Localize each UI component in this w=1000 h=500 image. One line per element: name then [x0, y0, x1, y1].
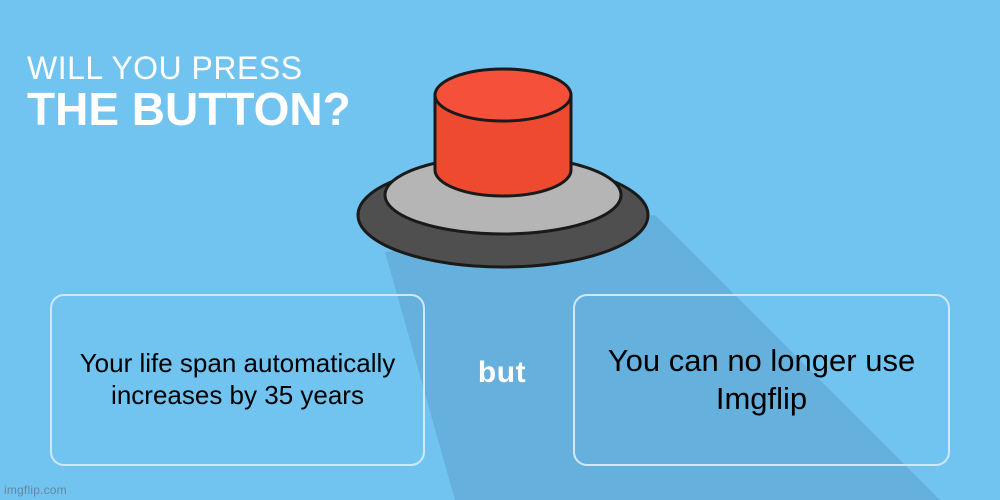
option-left[interactable]: Your life span automatically increases b… — [50, 294, 425, 466]
page-title: WILL YOU PRESS THE BUTTON? — [27, 52, 351, 132]
imgflip-watermark: imgflip.com — [4, 483, 67, 497]
option-right-text: You can no longer use Imgflip — [575, 342, 948, 418]
option-left-text: Your life span automatically increases b… — [52, 348, 423, 411]
title-line-1: WILL YOU PRESS — [27, 52, 351, 84]
meme-canvas: WILL YOU PRESS THE BUTTON? Your life spa… — [0, 0, 1000, 500]
button-top-face — [435, 69, 571, 121]
option-right[interactable]: You can no longer use Imgflip — [573, 294, 950, 466]
title-line-2: THE BUTTON? — [27, 86, 351, 132]
red-button-graphic[interactable] — [350, 55, 670, 270]
connector-but: but — [469, 356, 535, 390]
